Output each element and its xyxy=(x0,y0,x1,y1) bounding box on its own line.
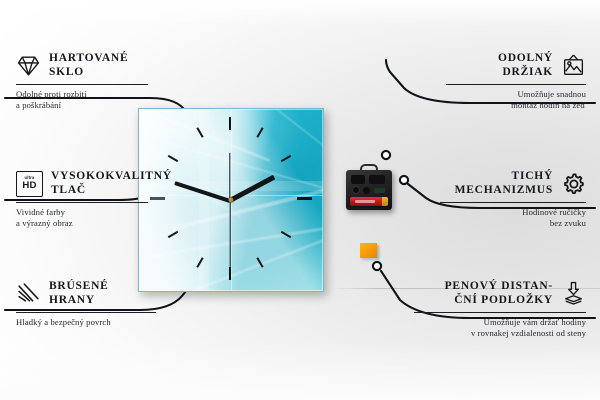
feature-title-line1: BRÚSENÉ xyxy=(49,280,109,294)
feature-desc-line1: Umožňuje vám držať hodiny xyxy=(414,317,586,328)
wall-picture-hanger-icon xyxy=(561,53,586,78)
feature-durable-hanger: ODOLNÝ DRŽIAK Umožňuje snadnou montáž ho… xyxy=(446,52,586,110)
infographic-canvas: HARTOVANÉ SKLO Odolné proti rozbití a po… xyxy=(0,0,600,400)
feature-title-line2: HRANY xyxy=(49,294,109,308)
feature-title-line1: PENOVÝ DISTAN- xyxy=(445,280,553,294)
clock-center-pin xyxy=(229,198,234,203)
feature-divider xyxy=(414,312,586,313)
aa-battery xyxy=(350,197,388,206)
product-wall-clock xyxy=(138,108,324,292)
feature-title-line1: VYSOKOKVALITNÝ xyxy=(51,170,172,184)
clock-mechanism xyxy=(346,170,392,210)
mechanism-detail xyxy=(369,175,385,184)
gear-icon xyxy=(561,171,586,196)
foam-pad-shadow xyxy=(377,245,381,260)
feature-divider xyxy=(16,312,156,313)
feature-desc-line2: v rovnakej vzdialenosti od steny xyxy=(414,328,586,339)
mechanism-detail xyxy=(363,187,370,194)
feature-title-line1: HARTOVANÉ xyxy=(49,52,128,66)
feature-title-line2: MECHANIZMUS xyxy=(455,184,553,198)
node-foam xyxy=(373,262,381,270)
feature-title-line2: ČNÍ PODLOŽKY xyxy=(445,294,553,308)
node-mechanism xyxy=(400,176,408,184)
foam-spacer-pad xyxy=(360,243,377,258)
feature-ground-edges: BRÚSENÉ HRANY Hladký a bezpečný povrch xyxy=(16,280,156,328)
feature-title-line2: TLAČ xyxy=(51,184,172,198)
feature-desc-line2: montáž hodin na zeď xyxy=(446,100,586,111)
mechanism-detail xyxy=(374,188,385,193)
clock-second-hand xyxy=(229,201,230,273)
feature-divider xyxy=(440,202,586,203)
feature-divider xyxy=(446,84,586,85)
feature-foam-spacers: PENOVÝ DISTAN- ČNÍ PODLOŽKY Umožňuje vám… xyxy=(414,280,586,338)
mechanism-detail xyxy=(352,186,360,194)
battery-label xyxy=(355,200,375,203)
feature-desc-line1: Umožňuje snadnou xyxy=(446,89,586,100)
node-hanger xyxy=(382,151,390,159)
ground-edges-icon xyxy=(16,281,41,306)
feature-silent-mechanism: TICHÝ MECHANIZMUS Hodinové ručičky bez z… xyxy=(440,170,586,228)
feature-title-line2: DRŽIAK xyxy=(498,66,553,80)
feature-desc-line1: Hodinové ručičky xyxy=(440,207,586,218)
feature-desc-line2: a výrazný obraz xyxy=(16,218,148,229)
feature-desc-line2: a poškrábání xyxy=(16,100,148,111)
diamond-icon xyxy=(16,53,41,78)
feature-desc-line1: Odolné proti rozbití xyxy=(16,89,148,100)
feature-desc-line1: Vividné farby xyxy=(16,207,148,218)
stacked-pads-arrow-icon xyxy=(561,281,586,306)
feature-title-line1: ODOLNÝ xyxy=(498,52,553,66)
feature-desc-line2: bez zvuku xyxy=(440,218,586,229)
ultra-hd-icon: ultraHD xyxy=(16,171,43,197)
mechanism-body xyxy=(346,170,392,210)
feature-title-line1: TICHÝ xyxy=(455,170,553,184)
feature-divider xyxy=(16,84,148,85)
feature-tempered-glass: HARTOVANÉ SKLO Odolné proti rozbití a po… xyxy=(16,52,148,110)
battery-positive-cap xyxy=(382,197,388,206)
feature-desc-line1: Hladký a bezpečný povrch xyxy=(16,317,156,328)
mechanism-detail xyxy=(351,175,365,184)
feature-high-quality-print: ultraHD VYSOKOKVALITNÝ TLAČ Vividné farb… xyxy=(16,170,148,228)
feature-divider xyxy=(16,202,148,203)
feature-title-line2: SKLO xyxy=(49,66,128,80)
